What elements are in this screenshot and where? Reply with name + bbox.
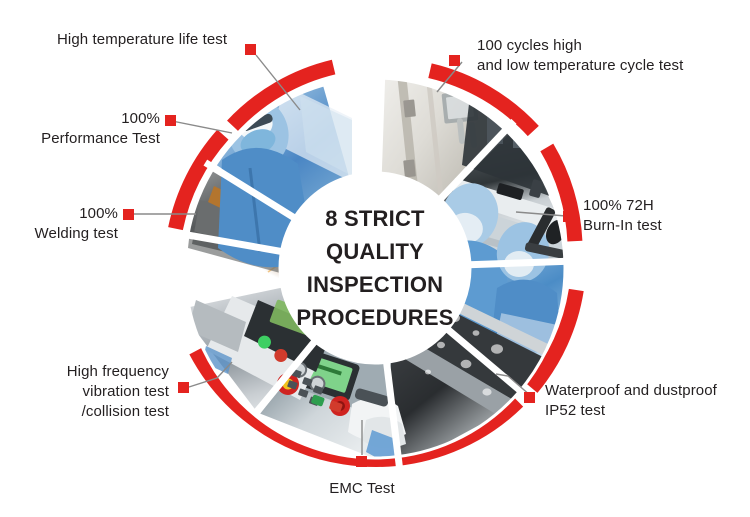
label-welding-test-line-2: Welding test [20,224,118,244]
label-emc-test: EMC Test [302,479,422,499]
connector-performance-test [167,120,232,133]
center-title-line-3: INSPECTION [307,268,443,301]
label-burn-in-test-line-2: Burn-In test [583,216,662,236]
marker-emc-test[interactable] [356,456,367,467]
label-cycle-test-line-1: 100 cycles high [477,36,683,56]
label-performance-test-line-2: Performance Test [14,129,160,149]
label-welding-test-line-1: 100% [20,204,118,224]
label-cycle-test-line-2: and low temperature cycle test [477,56,683,76]
label-emc-test-line-1: EMC Test [302,479,422,499]
marker-waterproof-dustproof-test[interactable] [524,392,535,403]
infographic-canvas: 8 STRICT QUALITY INSPECTION PROCEDURES H… [0,0,750,517]
label-burn-in-test: 100% 72H Burn-In test [583,196,662,236]
label-burn-in-test-line-1: 100% 72H [583,196,662,216]
label-high-temperature-life-test-line-1: High temperature life test [57,30,227,50]
center-title-line-2: QUALITY [326,235,424,268]
label-waterproof-dustproof-test-line-1: Waterproof and dustproof [545,381,717,401]
marker-welding-test[interactable] [123,209,134,220]
marker-high-temperature-life-test[interactable] [245,44,256,55]
label-welding-test: 100% Welding test [20,204,118,244]
label-waterproof-dustproof-test-line-2: IP52 test [545,401,717,421]
label-vibration-collision-test-line-3: /collision test [24,402,169,422]
center-title-line-4: PROCEDURES [296,301,453,334]
label-cycle-test: 100 cycles high and low temperature cycl… [477,36,683,76]
label-performance-test: 100% Performance Test [14,109,160,149]
center-title-line-1: 8 STRICT [325,202,424,235]
label-vibration-collision-test: High frequency vibration test /collision… [24,362,169,422]
marker-cycle-test[interactable] [449,55,460,66]
label-performance-test-line-1: 100% [14,109,160,129]
center-title: 8 STRICT QUALITY INSPECTION PROCEDURES [279,168,471,368]
label-high-temperature-life-test: High temperature life test [57,30,227,50]
marker-vibration-collision-test[interactable] [178,382,189,393]
label-waterproof-dustproof-test: Waterproof and dustproof IP52 test [545,381,717,421]
label-vibration-collision-test-line-2: vibration test [24,382,169,402]
marker-burn-in-test[interactable] [563,211,574,222]
marker-performance-test[interactable] [165,115,176,126]
label-vibration-collision-test-line-1: High frequency [24,362,169,382]
